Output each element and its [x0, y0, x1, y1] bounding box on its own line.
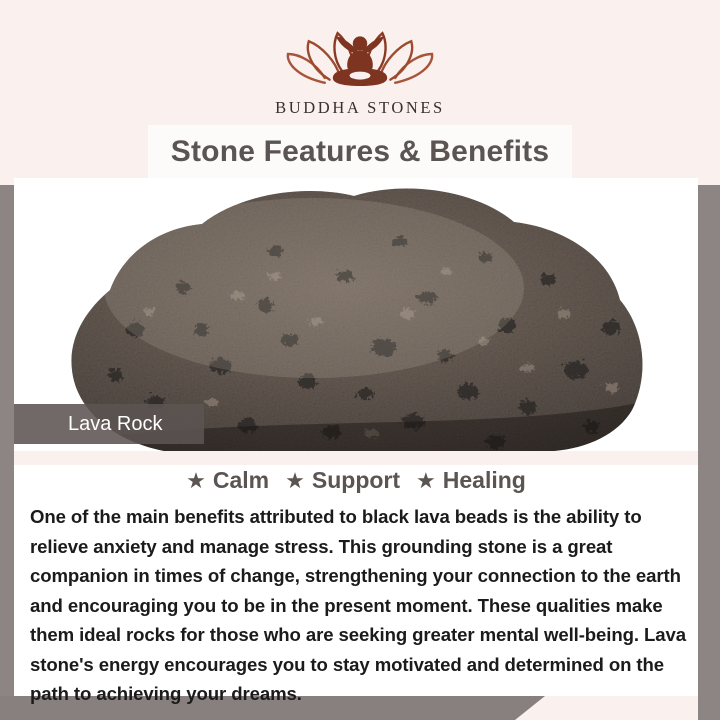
benefit-label: Healing	[443, 467, 526, 494]
description-text: One of the main benefits attributed to b…	[30, 502, 702, 709]
benefit-item: ★ Calm	[186, 467, 269, 494]
brand-logo: BUDDHA STONES	[0, 22, 720, 118]
stone-features-infographic: BUDDHA STONES Stone Features & Benefits	[0, 0, 720, 720]
benefit-item: ★ Healing	[416, 467, 526, 494]
header: BUDDHA STONES Stone Features & Benefits	[0, 0, 720, 185]
star-icon: ★	[285, 470, 305, 492]
panel-tint-strip	[14, 451, 698, 465]
photo-caption-band: Lava Rock	[14, 404, 204, 444]
frame-accent-left	[0, 185, 14, 720]
title-band: Stone Features & Benefits	[148, 125, 572, 179]
star-icon: ★	[186, 470, 206, 492]
lotus-meditation-figure-icon	[280, 22, 440, 94]
benefit-label: Support	[312, 467, 400, 494]
page-title: Stone Features & Benefits	[171, 135, 549, 169]
photo-caption: Lava Rock	[14, 413, 163, 436]
benefit-label: Calm	[213, 467, 269, 494]
benefits-row: ★ Calm ★ Support ★ Healing	[14, 467, 698, 494]
star-icon: ★	[416, 470, 436, 492]
brand-name: BUDDHA STONES	[0, 98, 720, 118]
benefit-item: ★ Support	[285, 467, 400, 494]
